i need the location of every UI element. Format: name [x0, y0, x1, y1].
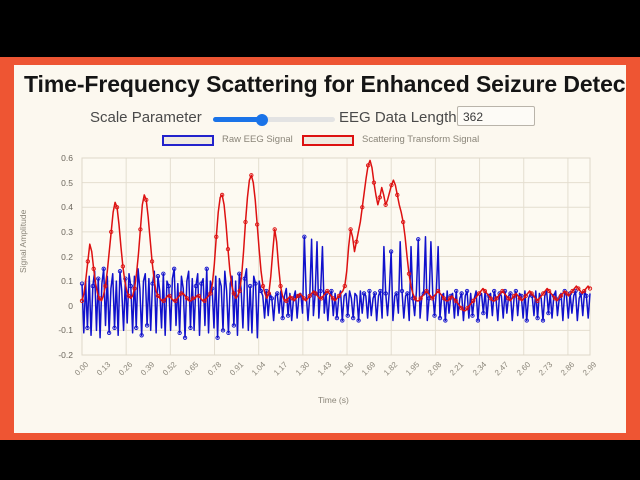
legend-swatch-scattering [302, 135, 354, 146]
chart-area: Signal Amplitude 0.60.50.40.30.20.10-0.1… [14, 153, 626, 423]
slider-thumb[interactable] [256, 114, 268, 126]
y-axis-label: Signal Amplitude [18, 210, 28, 273]
letterbox-top [0, 0, 640, 57]
scale-parameter-label: Scale Parameter [90, 109, 202, 126]
app-frame: Time-Frequency Scattering for Enhanced S… [0, 57, 640, 440]
letterbox-bottom [0, 440, 640, 480]
y-tick-label: -0.2 [47, 350, 73, 360]
controls-row: Scale Parameter EEG Data Length 362 [14, 107, 626, 131]
chart-legend: Raw EEG Signal Scattering Transform Sign… [14, 134, 626, 150]
y-tick-label: 0.5 [47, 178, 73, 188]
y-tick-label: 0 [47, 301, 73, 311]
eeg-data-length-label: EEG Data Length [339, 109, 457, 126]
app-panel: Time-Frequency Scattering for Enhanced S… [14, 65, 626, 433]
y-tick-label: -0.1 [47, 325, 73, 335]
page-title: Time-Frequency Scattering for Enhanced S… [24, 71, 626, 98]
y-tick-label: 0.2 [47, 252, 73, 262]
y-tick-label: 0.1 [47, 276, 73, 286]
legend-label-scattering: Scattering Transform Signal [362, 134, 479, 145]
screenshot-stage: Time-Frequency Scattering for Enhanced S… [0, 0, 640, 480]
eeg-data-length-input[interactable]: 362 [457, 106, 535, 126]
legend-swatch-raw-eeg [162, 135, 214, 146]
y-tick-label: 0.6 [47, 153, 73, 163]
y-tick-label: 0.3 [47, 227, 73, 237]
legend-label-raw-eeg: Raw EEG Signal [222, 134, 293, 145]
y-tick-label: 0.4 [47, 202, 73, 212]
scale-parameter-slider[interactable] [213, 115, 335, 124]
x-axis-label: Time (s) [318, 395, 349, 405]
signal-plot [14, 153, 626, 423]
